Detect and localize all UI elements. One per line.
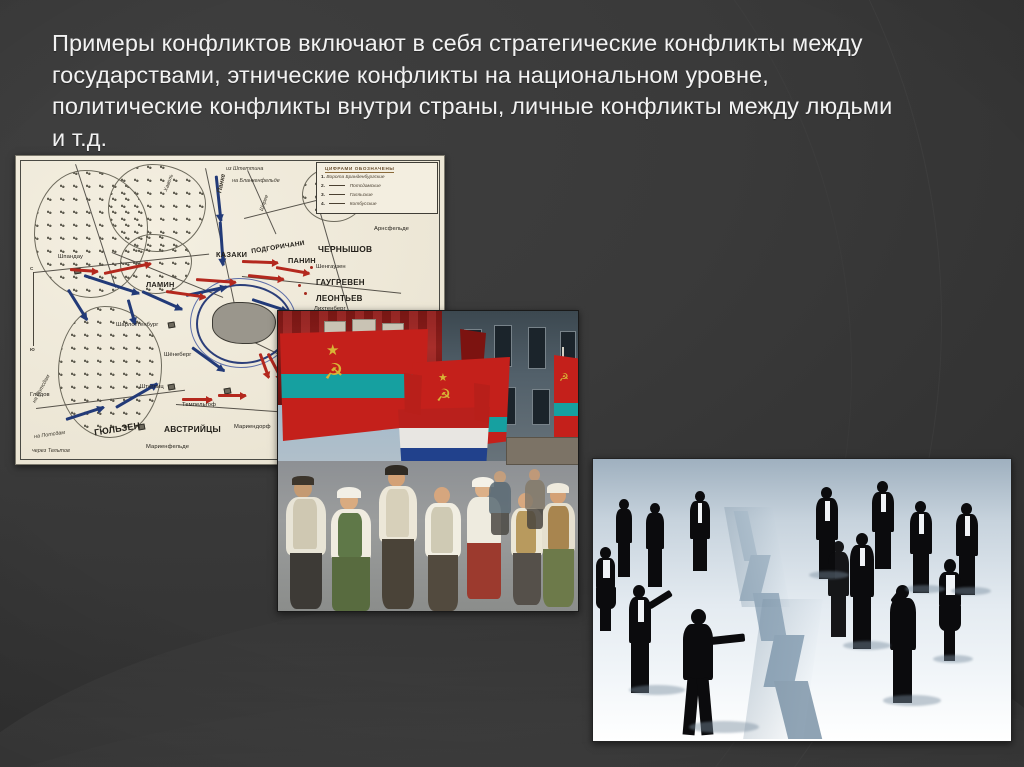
compass-north-label: С [30, 266, 33, 271]
person-legs [382, 539, 414, 609]
map-arrow-red [218, 394, 246, 397]
compass-south-label: Ю [30, 347, 35, 352]
person-vest [338, 513, 362, 557]
person-legs [290, 553, 322, 609]
legend-dash-icon [329, 203, 345, 204]
star-icon: ★ [326, 343, 339, 358]
silhouette-person-pointing [681, 609, 743, 735]
map-note-via-teltow: через Тельтов [32, 448, 70, 454]
map-label-chernyshov: ЧЕРНЫШОВ [318, 244, 372, 254]
parade-person [542, 487, 576, 607]
silhouette-skirt [939, 605, 961, 631]
map-label-mariendorf: Мариендорф [234, 424, 271, 430]
legend-text: Ворота Бранденбургские [326, 175, 384, 180]
parade-person [424, 487, 462, 611]
flag-band-red-top [412, 357, 510, 417]
person-vest [293, 499, 317, 549]
parade-person-far [524, 469, 546, 529]
silhouette-person-phone [889, 585, 917, 703]
map-gate-marker [168, 383, 176, 390]
silhouette-head [944, 559, 956, 573]
silhouette-shirt [860, 548, 865, 566]
silhouette-legs [648, 548, 662, 587]
legend-num: 1. [321, 175, 325, 180]
silhouette-torso [616, 509, 632, 543]
slide-canvas: Примеры конфликтов включают в себя страт… [0, 0, 1024, 767]
parade-balcony [506, 437, 579, 465]
flag-band-red-top [280, 329, 428, 374]
legend-text: Котбусские [350, 202, 377, 207]
hammer-sickle-icon: ☭ [324, 361, 344, 383]
parade-flag-transnistria-right: ☭ [554, 355, 579, 447]
map-legend: ЦИФРАМИ ОБОЗНАЧЕНЫ 1. Ворота Бранденбург… [316, 162, 438, 214]
person-vest [548, 506, 569, 550]
silhouette-shadow [689, 721, 759, 733]
person-skirt [467, 543, 501, 599]
person-headdress [547, 483, 569, 493]
silhouette-person-briefcase [827, 541, 851, 637]
silhouette-shirt [698, 503, 702, 523]
legend-dash-icon [329, 185, 345, 186]
silhouette-person [615, 499, 633, 577]
silhouette-person-female [595, 547, 617, 631]
silhouette-torso [890, 598, 916, 650]
map-note-to-blankenfelde: на Бланкенфельде [232, 178, 280, 184]
hammer-sickle-icon: ☭ [559, 373, 569, 384]
person-skirt [332, 557, 370, 611]
person-skirt [543, 549, 574, 607]
parade-person [284, 479, 328, 609]
map-label-charlottenburg: Шарлоттенбург [116, 322, 158, 328]
silhouette-person-arms-crossed [849, 533, 875, 649]
map-note-from-stettin: из Штеттина [226, 166, 263, 172]
map-label-leontiev: ЛЕОНТЬЕВ [316, 294, 363, 303]
silhouette-shirt [638, 600, 644, 622]
silhouette-person-gesturing [627, 585, 669, 693]
silhouette-legs [875, 531, 891, 569]
legend-num: 2. [321, 184, 325, 189]
parade-flag-small-red [404, 373, 422, 415]
silhouette-person-female [937, 559, 963, 661]
silhouette-person [645, 503, 665, 587]
map-label-spandau: Шпандау [58, 254, 83, 260]
map-label-steglitz: Штеглиц [140, 384, 164, 390]
silhouette-shirt [825, 501, 830, 521]
map-legend-row: 1. Ворота Бранденбургские [321, 175, 385, 180]
silhouette-legs [618, 542, 630, 577]
legend-num: 3. [321, 193, 325, 198]
map-village-dot [304, 292, 307, 295]
legend-num: 4. [321, 202, 325, 207]
person-legs [527, 509, 543, 529]
person-head [434, 487, 450, 504]
silhouette-skirt [596, 587, 616, 609]
map-compass: С Ю [30, 266, 38, 352]
silhouette-legs [831, 595, 846, 637]
map-legend-row: 4. Котбусские [321, 202, 377, 207]
parade-window [528, 327, 546, 369]
hammer-sickle-icon: ☭ [436, 387, 451, 404]
parade-flag-small-red [474, 383, 490, 423]
person-legs [428, 555, 458, 611]
tricolor-stripe-white [398, 428, 490, 449]
map-label-schonhausen: Шенгаузен [316, 264, 346, 270]
map-legend-title: ЦИФРАМИ ОБОЗНАЧЕНЫ [325, 166, 394, 173]
silhouette-head [691, 609, 706, 625]
map-label-austrians: АВСТРИЙЦЫ [164, 424, 221, 434]
map-label-arnsfelde: Арнсфельде [374, 226, 409, 232]
star-icon: ★ [438, 373, 448, 384]
map-arrow-red [182, 398, 212, 401]
person-vest [386, 489, 409, 537]
silhouette-arm-pointing [711, 633, 746, 645]
person-headdress [337, 487, 361, 498]
legend-text: Потсдамские [350, 184, 381, 189]
map-gate-marker [168, 321, 176, 328]
silhouette-shadow [905, 585, 945, 593]
person-hat [292, 476, 314, 485]
flag-band-green [554, 403, 579, 416]
silhouette-shadow [629, 685, 685, 695]
silhouette-torso [683, 624, 713, 680]
parade-person [378, 469, 418, 609]
map-label-lamin: ЛАМИН [146, 280, 175, 289]
legend-dash-icon [329, 194, 345, 195]
person-torso [525, 480, 545, 510]
silhouette-person [909, 501, 933, 593]
parade-person [330, 491, 372, 611]
map-legend-row: 3. Галльские [321, 193, 373, 198]
silhouette-shirt [965, 516, 970, 536]
compass-bar [33, 272, 34, 346]
map-city-berlin [212, 302, 276, 344]
silhouette-person [689, 491, 711, 571]
person-hat [385, 465, 408, 475]
silhouette-shadow [843, 641, 891, 650]
parade-window [532, 389, 550, 425]
map-label-gaugreven: ГАУГРЕВЕН [316, 278, 365, 287]
silhouette-shadow [809, 571, 849, 579]
image-conflict-silhouettes[interactable] [592, 458, 1012, 742]
map-legend-row: 2. Потсдамские [321, 184, 381, 189]
silhouette-shirt [603, 560, 610, 578]
silhouette-shadow [951, 587, 991, 595]
person-legs [491, 513, 509, 535]
person-torso [489, 482, 511, 514]
map-label-marienfelde: Мариенфельде [146, 444, 189, 450]
slide-body-text: Примеры конфликтов включают в себя страт… [52, 28, 912, 154]
silhouette-shadow [933, 655, 973, 663]
silhouette-legs [693, 538, 707, 571]
person-legs [513, 553, 541, 605]
map-label-tempelhof: Темпельгоф [182, 402, 216, 408]
parade-person-far [488, 471, 512, 535]
image-parade-demonstration[interactable]: ★ ☭ ★ ☭ ☭ [277, 310, 579, 612]
silhouette-legs [600, 608, 611, 631]
map-village-dot [298, 284, 301, 287]
silhouette-torso [646, 513, 664, 549]
silhouette-shirt [881, 494, 886, 512]
person-vest [431, 507, 453, 553]
map-label-kazaki: КАЗАКИ [216, 250, 247, 259]
silhouette-shirt [919, 514, 924, 534]
legend-text: Галльские [350, 193, 373, 198]
map-label-schoneberg: Шёнеберг [164, 352, 192, 358]
map-label-panin: ПАНИН [288, 256, 316, 265]
silhouette-shadow [883, 695, 941, 706]
